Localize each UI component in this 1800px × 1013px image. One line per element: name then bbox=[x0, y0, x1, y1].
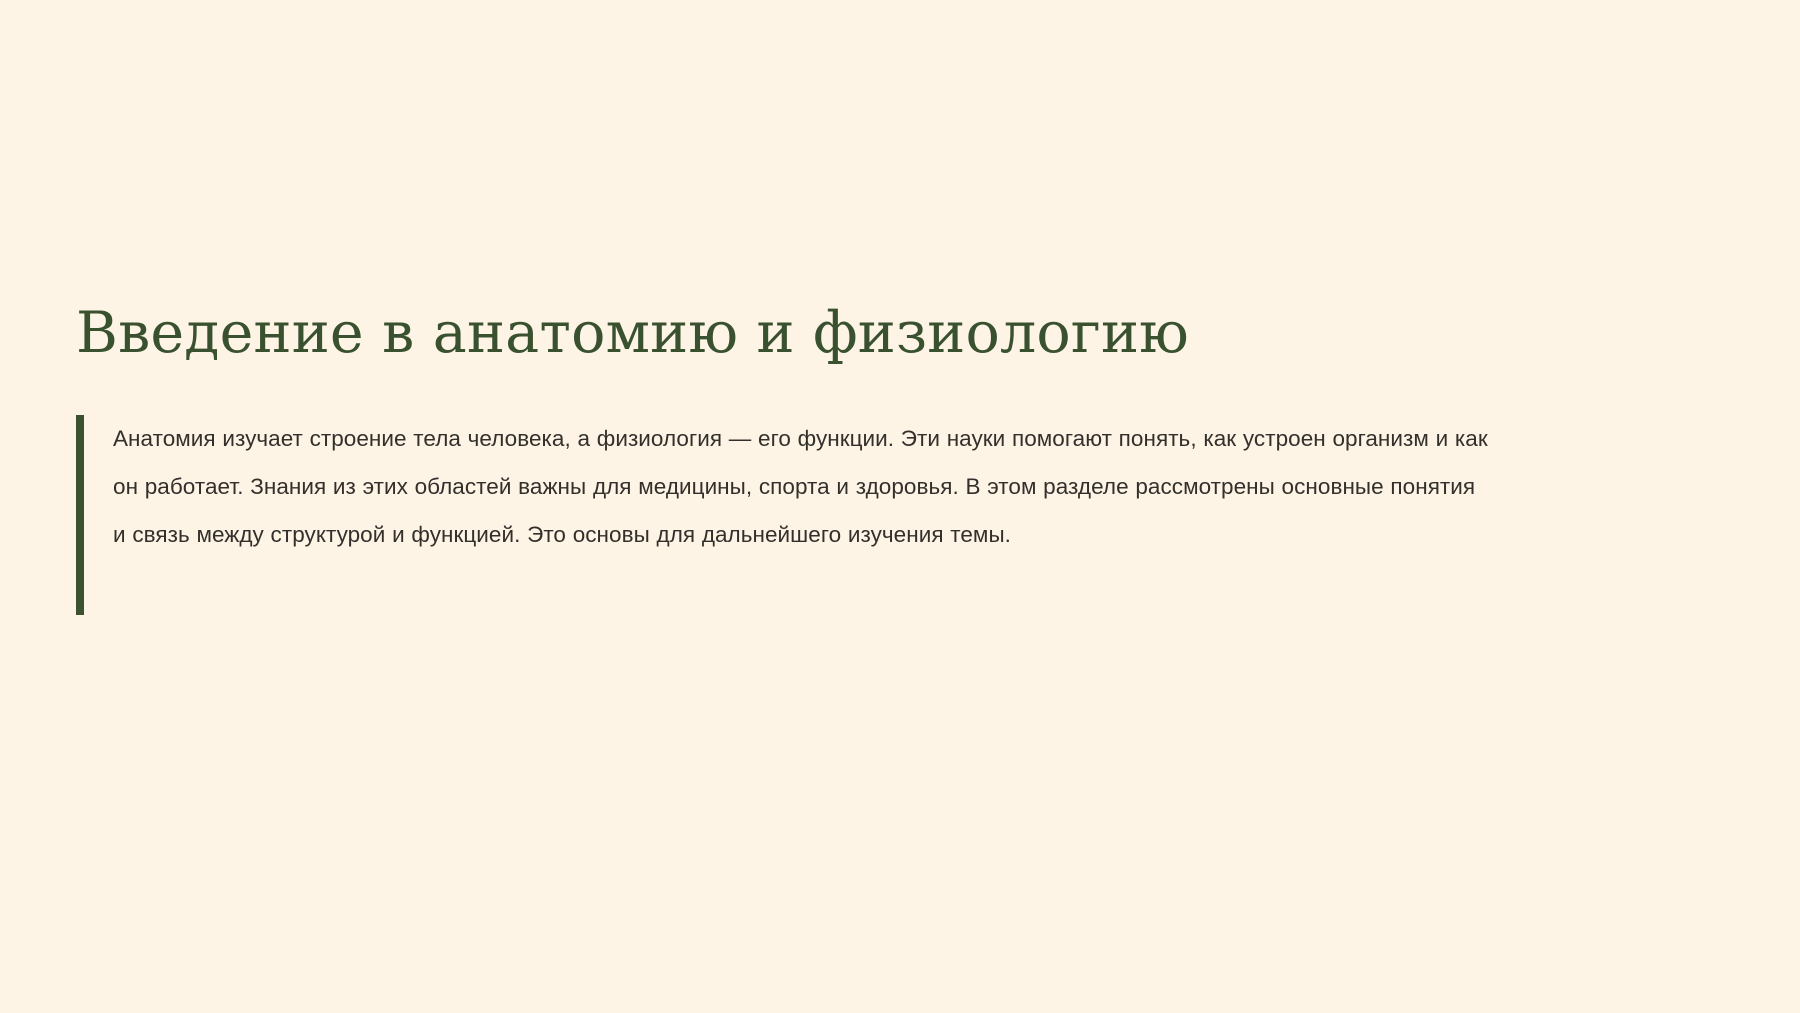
slide-canvas: Введение в анатомию и физиологию Анатоми… bbox=[0, 0, 1800, 1013]
body-callout: Анатомия изучает строение тела человека,… bbox=[76, 415, 1496, 615]
body-paragraph: Анатомия изучает строение тела человека,… bbox=[113, 415, 1493, 559]
content-block: Введение в анатомию и физиологию Анатоми… bbox=[76, 300, 1496, 615]
page-title: Введение в анатомию и физиологию bbox=[76, 300, 1496, 367]
accent-bar bbox=[76, 415, 84, 615]
